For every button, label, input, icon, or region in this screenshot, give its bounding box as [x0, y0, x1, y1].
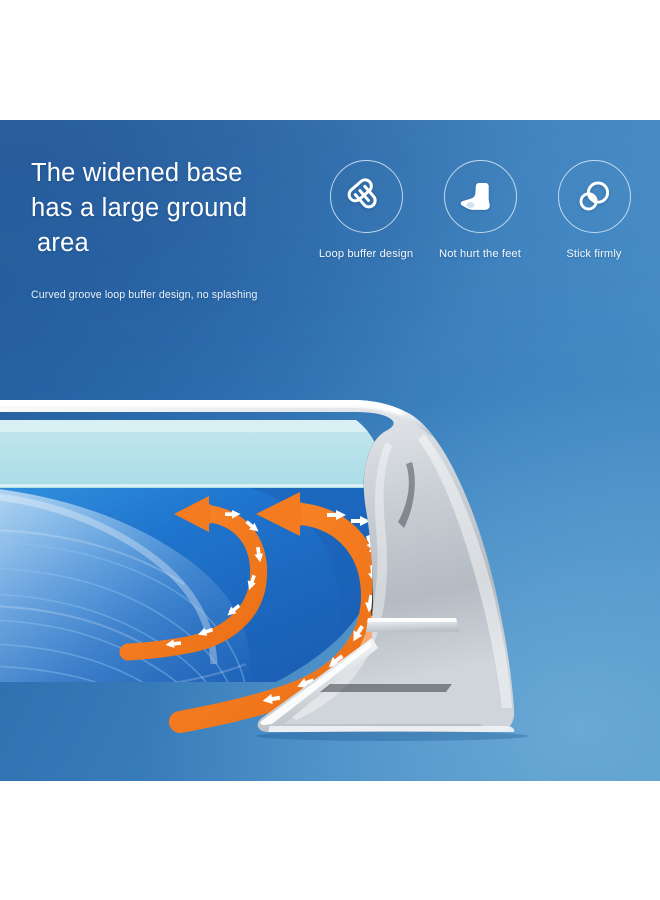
feature-not-hurt-the-feet: Not hurt the feet	[424, 160, 536, 261]
letterbox-top	[0, 0, 660, 120]
feature-stick-firmly: Stick firmly	[538, 160, 650, 261]
feature-label-2: Not hurt the feet	[439, 247, 521, 261]
headline-line-1: The widened base	[31, 156, 321, 191]
product-feature-image: The widened base has a large ground area…	[0, 0, 660, 900]
barrier-base-shadow	[256, 731, 528, 741]
headline-line-3: area	[31, 226, 321, 261]
headline-block: The widened base has a large ground area	[31, 156, 321, 261]
shower-water-barrier-cross-section	[0, 392, 660, 781]
feature-label-1: Loop buffer design	[319, 247, 413, 261]
headline-line-2: has a large ground	[31, 191, 321, 226]
foot-icon	[458, 175, 502, 219]
subtitle-text: Curved groove loop buffer design, no spl…	[31, 288, 341, 303]
feature-label-3: Stick firmly	[566, 247, 621, 261]
hero-panel: The widened base has a large ground area…	[0, 120, 660, 781]
letterbox-bottom	[0, 781, 660, 900]
paperclip-icon	[343, 174, 389, 220]
feature-ring-2	[444, 160, 517, 233]
feature-ring-3	[558, 160, 631, 233]
feature-badge-row: Loop buffer design Not hurt the feet	[310, 160, 650, 261]
feature-loop-buffer-design: Loop buffer design	[310, 160, 422, 261]
overlapping-circles-icon	[571, 174, 617, 220]
feature-ring-1	[330, 160, 403, 233]
